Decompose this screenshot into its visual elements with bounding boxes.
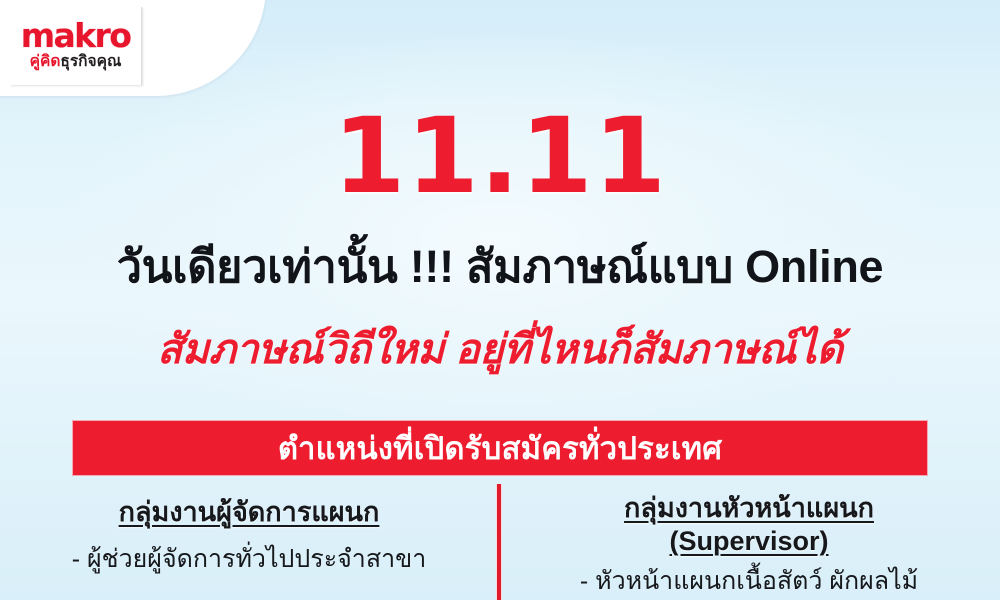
- makro-tagline: คู่คิดธุรกิจคุณ: [30, 54, 122, 70]
- job-group-manager-title: กลุ่มงานผู้จัดการแผนก: [119, 496, 380, 528]
- list-item: - หัวหน้าแผนกเนื้อสัตว์ ผักผลไม้: [514, 566, 984, 597]
- job-group-manager: กลุ่มงานผู้จัดการแผนก - ผู้ช่วยผู้จัดการ…: [0, 486, 498, 600]
- tagline-dark-part: ธุรกิจคุณ: [60, 53, 121, 70]
- list-item: - ผู้ช่วยผู้จัดการทั่วไปประจำสาขา: [16, 544, 482, 575]
- campaign-date-heading: 11.11: [0, 104, 1000, 208]
- makro-logo: makro คู่คิดธุรกิจคุณ: [10, 7, 142, 85]
- positions-banner: ตำแหน่งที่เปิดรับสมัครทั่วประเทศ: [72, 420, 928, 476]
- makro-wordmark: makro: [21, 19, 131, 52]
- recruitment-poster: makro คู่คิดธุรกิจคุณ 11.11 วันเดียวเท่า…: [0, 0, 1000, 600]
- tagline-red-part: คู่คิด: [30, 53, 61, 70]
- logo-badge: makro คู่คิดธุรกิจคุณ: [0, 0, 266, 96]
- headline-main: วันเดียวเท่านั้น !!! สัมภาษณ์แบบ Online: [0, 240, 1000, 293]
- job-group-supervisor: กลุ่มงานหัวหน้าแผนก (Supervisor) - หัวหน…: [498, 486, 1000, 600]
- job-group-manager-list: - ผู้ช่วยผู้จัดการทั่วไปประจำสาขา: [16, 544, 482, 575]
- column-divider: [496, 484, 502, 600]
- headline-sub: สัมภาษณ์วิถีใหม่ อยู่ที่ไหนก็สัมภาษณ์ได้: [0, 325, 1000, 374]
- job-group-supervisor-list: - หัวหน้าแผนกเนื้อสัตว์ ผักผลไม้: [514, 566, 984, 597]
- positions-banner-text: ตำแหน่งที่เปิดรับสมัครทั่วประเทศ: [278, 433, 722, 464]
- job-group-supervisor-title-line2: (Supervisor): [669, 525, 828, 558]
- job-group-supervisor-title-line1: กลุ่มงานหัวหน้าแผนก: [624, 492, 874, 525]
